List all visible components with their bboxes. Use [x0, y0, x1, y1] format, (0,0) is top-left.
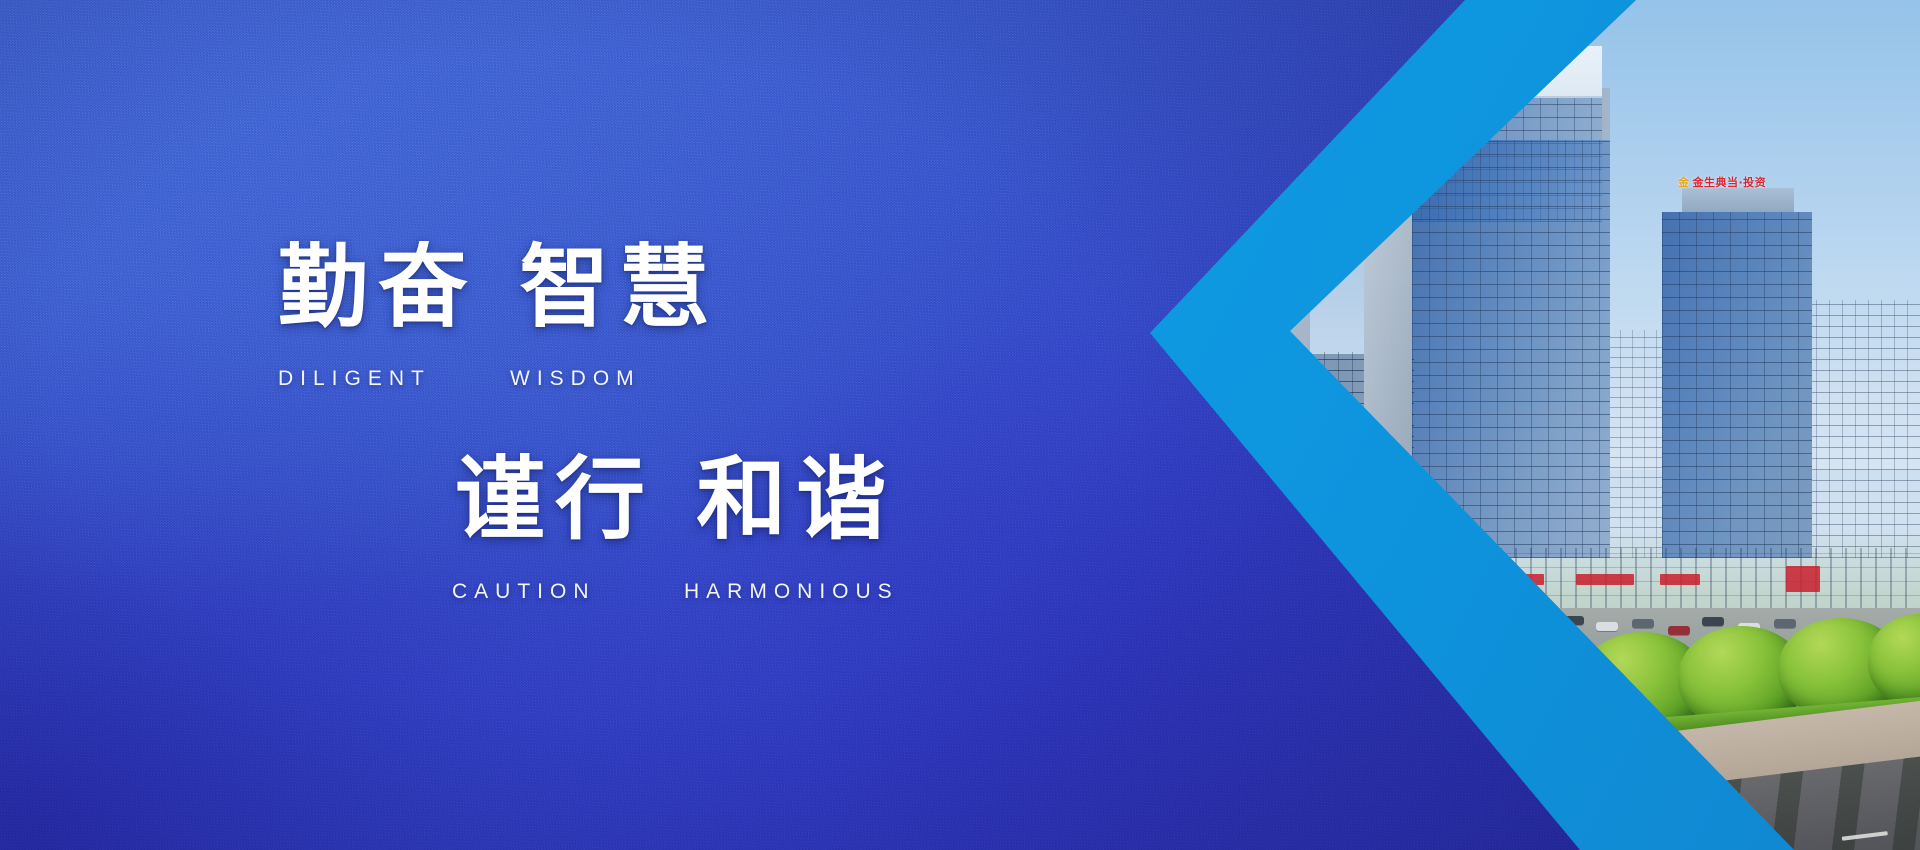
slogan-row2-english: CAUTION HARMONIOUS	[452, 580, 899, 604]
secondary-sign-mark: 金	[1678, 174, 1690, 190]
photo-secondary-tower	[1662, 212, 1812, 558]
photo-shop-sign	[1786, 566, 1820, 592]
photo-shop-sign	[1660, 574, 1700, 585]
slogan-row2-chinese: 谨行 和谐	[455, 455, 896, 545]
slogan-row2-english-left: CAUTION	[452, 580, 684, 604]
slogan-row1-english-left: DILIGENT	[278, 367, 510, 391]
slogan-block: 勤奋 智慧 DILIGENT WISDOM 谨行 和谐 CAUTION HARM…	[0, 0, 1150, 850]
slogan-row2-english-right: HARMONIOUS	[684, 580, 899, 604]
slogan-row1-english-right: WISDOM	[510, 367, 641, 391]
photo-shop-sign	[1576, 574, 1634, 585]
photo-secondary-building-sign: 金 金生典当·投资	[1678, 172, 1804, 192]
secondary-sign-text: 金生典当·投资	[1693, 174, 1767, 190]
slogan-row1-english: DILIGENT WISDOM	[278, 367, 641, 391]
slogan-row1-chinese: 勤奋 智慧	[278, 243, 719, 333]
hero-banner: 金 金生典当·投资 江苏国泰	[0, 0, 1920, 850]
